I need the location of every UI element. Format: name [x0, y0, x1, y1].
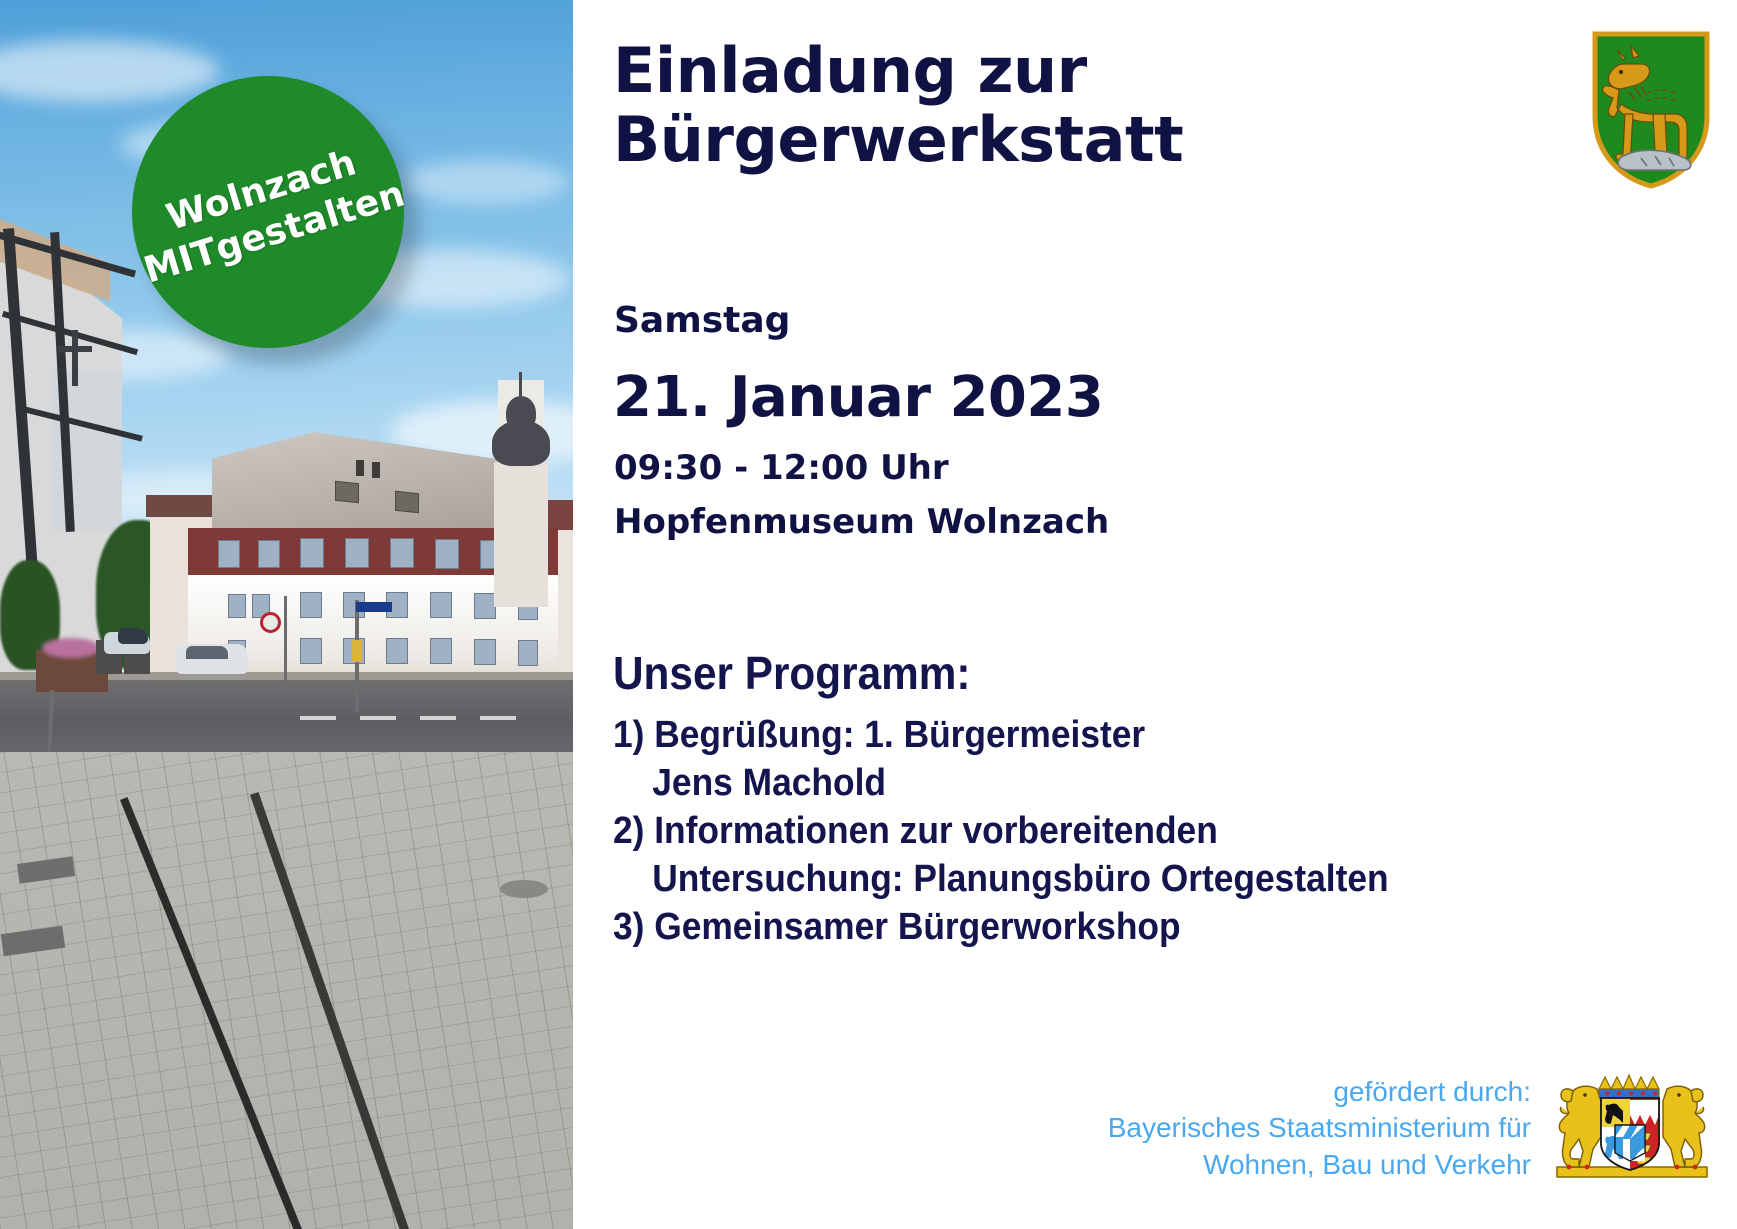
page-title: Einladung zur Bürgerwerkstatt	[613, 36, 1373, 175]
program-item: 2) Informationen zur vorbereitenden	[613, 808, 1543, 856]
program-item: 3) Gemeinsamer Bürgerworkshop	[613, 904, 1543, 952]
event-time: 09:30 - 12:00 Uhr	[614, 448, 949, 488]
content-panel: Einladung zur Bürgerwerkstatt S	[573, 0, 1737, 1229]
sponsor-note: gefördert durch: Bayerisches Staatsminis…	[1108, 1074, 1531, 1183]
sponsor-line-3: Wohnen, Bau und Verkehr	[1108, 1147, 1531, 1183]
page-title-line-2: Bürgerwerkstatt	[613, 105, 1373, 174]
bavaria-coat-of-arms-icon	[1549, 1067, 1715, 1185]
event-venue: Hopfenmuseum Wolnzach	[614, 502, 1109, 542]
sponsor-line-1: gefördert durch:	[1108, 1074, 1531, 1110]
event-date: 21. Januar 2023	[613, 365, 1103, 430]
program-item: Jens Machold	[613, 760, 1543, 808]
page-title-line-1: Einladung zur	[613, 36, 1373, 105]
event-day-label: Samstag	[614, 300, 790, 341]
poster-root: Wolnzach MITgestalten Einladung zur Bürg…	[0, 0, 1737, 1229]
town-square-photo: Wolnzach MITgestalten	[0, 0, 573, 1229]
program-heading: Unser Programm:	[613, 646, 970, 700]
wolnzach-coat-of-arms-icon	[1589, 30, 1713, 190]
program-list: 1) Begrüßung: 1. Bürgermeister Jens Mach…	[613, 712, 1543, 951]
sponsor-line-2: Bayerisches Staatsministerium für	[1108, 1110, 1531, 1146]
badge-text: Wolnzach MITgestalten	[126, 131, 410, 294]
program-item: Untersuchung: Planungsbüro Ortegestalten	[613, 856, 1543, 904]
wolnzach-mitgestalten-badge: Wolnzach MITgestalten	[132, 76, 404, 348]
program-item: 1) Begrüßung: 1. Bürgermeister	[613, 712, 1543, 760]
